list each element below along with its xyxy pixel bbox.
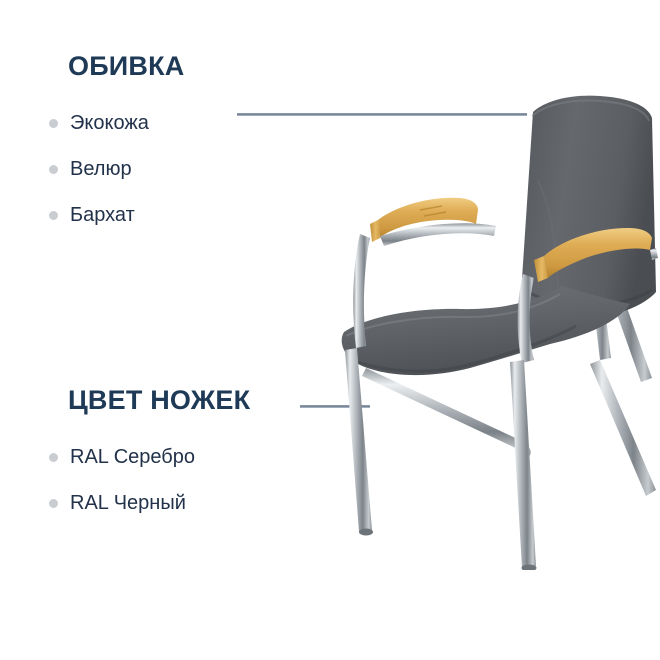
option-label: RAL Серебро <box>70 447 195 467</box>
option-label: Экокожа <box>70 113 149 133</box>
seat <box>342 286 630 375</box>
list-item[interactable]: Велюр <box>68 146 185 192</box>
option-list-legcolor: RAL Серебро RAL Черный <box>68 434 250 526</box>
backrest <box>521 96 656 319</box>
page-title-upholstery: ОБИВКА <box>68 52 185 80</box>
front-right-leg <box>510 360 537 570</box>
option-label: RAL Черный <box>70 493 186 513</box>
list-item[interactable]: RAL Черный <box>68 480 250 526</box>
option-list-upholstery: Экокожа Велюр Бархат <box>68 100 185 238</box>
bullet-icon <box>49 499 58 508</box>
bullet-icon <box>49 211 58 220</box>
spec-group-legcolor: ЦВЕТ НОЖЕК RAL Серебро RAL Черный <box>68 386 250 526</box>
spec-group-upholstery: ОБИВКА Экокожа Велюр Бархат <box>68 52 185 238</box>
option-label: Велюр <box>70 159 132 179</box>
list-item[interactable]: Бархат <box>68 192 185 238</box>
stretcher-bar <box>362 368 531 458</box>
bullet-icon <box>49 165 58 174</box>
option-label: Бархат <box>70 205 135 225</box>
rear-right-leg <box>590 360 656 496</box>
bullet-icon <box>49 119 58 128</box>
bullet-icon <box>49 453 58 462</box>
page-title-legcolor: ЦВЕТ НОЖЕК <box>68 386 250 414</box>
list-item[interactable]: Экокожа <box>68 100 185 146</box>
list-item[interactable]: RAL Серебро <box>68 434 250 480</box>
chair-illustration <box>300 60 660 570</box>
infographic-canvas: ОБИВКА Экокожа Велюр Бархат ЦВЕТ НОЖЕК R… <box>0 0 660 660</box>
